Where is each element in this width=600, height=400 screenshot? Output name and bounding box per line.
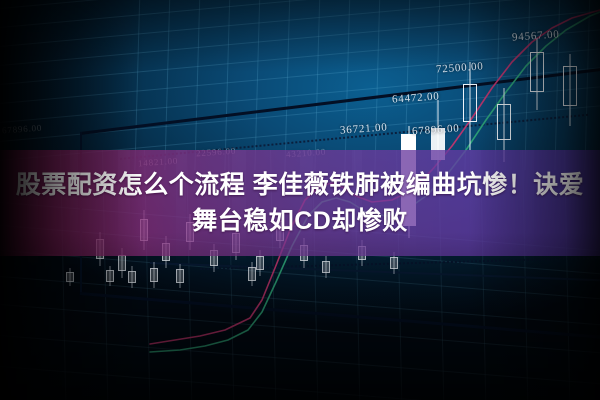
- candle-body: [106, 270, 114, 281]
- candle-body: [563, 66, 577, 106]
- candlestick: [106, 266, 114, 286]
- candle-body: [390, 257, 398, 269]
- candle-body: [176, 269, 184, 282]
- candle-body: [118, 255, 126, 272]
- candlestick: [128, 266, 136, 288]
- candlestick: [150, 262, 158, 288]
- candlestick: [530, 38, 544, 110]
- stock-news-banner-image: 94567.0072500.0064472.0036721.0067896.00…: [0, 0, 600, 400]
- candlestick: [66, 268, 74, 286]
- candlestick: [322, 256, 330, 278]
- candlestick: [463, 62, 477, 150]
- candle-body: [150, 268, 158, 283]
- candle-body: [322, 261, 330, 273]
- candlestick: [176, 264, 184, 288]
- candlestick: [248, 262, 256, 286]
- headline-line-2: 舞台稳如CD却惨败: [192, 204, 408, 238]
- candle-body: [497, 104, 511, 140]
- headline-line-1: 股票配资怎么个流程 李佳薇铁肺被编曲坑惨！诀爱: [16, 168, 584, 202]
- candle-body: [128, 271, 136, 283]
- candlestick: [563, 54, 577, 126]
- candle-body: [256, 256, 264, 271]
- headline-text-block: 股票配资怎么个流程 李佳薇铁肺被编曲坑惨！诀爱 舞台稳如CD却惨败: [0, 150, 600, 256]
- candle-body: [66, 272, 74, 282]
- candle-body: [463, 84, 477, 122]
- candle-body: [530, 52, 544, 92]
- candle-body: [248, 267, 256, 280]
